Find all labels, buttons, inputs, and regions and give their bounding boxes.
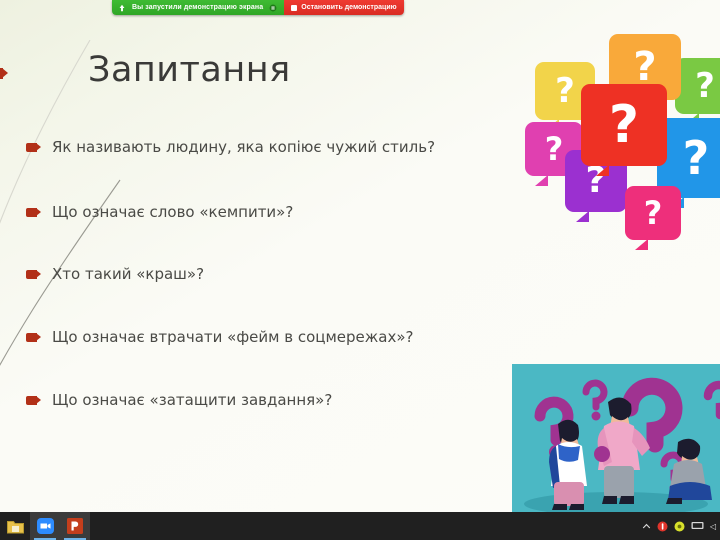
page-title: Запитання: [88, 50, 291, 90]
windows-taskbar: ◁: [0, 512, 720, 540]
arrow-bullet-icon: [26, 143, 40, 152]
powerpoint-icon: [67, 518, 83, 534]
stop-share-button[interactable]: Остановить демонстрацию: [284, 0, 403, 15]
folder-icon: [7, 519, 24, 534]
screen-share-icon: [118, 4, 126, 12]
bubble-red: ?: [581, 84, 667, 166]
bubble-pink: ?: [625, 186, 681, 240]
bullet-item-3: Хто такий «краш»?: [26, 265, 204, 283]
bullet-item-4: Що означає втрачати «фейм в соцмережах»?: [26, 328, 413, 346]
taskbar-zoom[interactable]: [30, 512, 60, 540]
share-status-text: Вы запустили демонстрацию экрана: [132, 4, 263, 11]
question-mark-glyph: ?: [625, 186, 681, 240]
edge-arrow-marker: [0, 68, 7, 79]
arrow-bullet-icon: [26, 333, 40, 342]
share-status: Вы запустили демонстрацию экрана: [112, 0, 284, 15]
arrow-bullet-icon: [26, 270, 40, 279]
people-with-question-marks-image: [512, 364, 720, 512]
pause-circle-icon[interactable]: [269, 4, 277, 12]
bullet-text: Що означає слово «кемпити»?: [52, 203, 293, 221]
tray-overflow[interactable]: ◁: [710, 522, 716, 531]
bullet-item-1: Як називають людину, яка копіює чужий ст…: [26, 138, 435, 156]
bullet-text: Що означає «затащити завдання»?: [52, 391, 332, 409]
yellow-circle-icon[interactable]: [674, 521, 685, 532]
bullet-text: Що означає втрачати «фейм в соцмережах»?: [52, 328, 413, 346]
zoom-camera-icon: [37, 518, 54, 534]
question-mark-glyph: ?: [675, 58, 720, 114]
chevron-up-icon[interactable]: [642, 522, 651, 531]
system-tray: ◁: [642, 512, 720, 540]
bubble-tail: [635, 239, 648, 250]
bubble-tail: [576, 211, 589, 222]
stop-square-icon: [291, 5, 297, 11]
arrow-bullet-icon: [26, 396, 40, 405]
bullet-text: Хто такий «краш»?: [52, 265, 204, 283]
taskbar-powerpoint[interactable]: [60, 512, 90, 540]
bullet-item-2: Що означає слово «кемпити»?: [26, 203, 293, 221]
red-circle-icon[interactable]: [657, 521, 668, 532]
bullet-item-5: Що означає «затащити завдання»?: [26, 391, 332, 409]
bubble-tail: [535, 175, 548, 186]
bubble-tail: [596, 165, 609, 176]
question-speech-bubbles-image: ????????: [525, 18, 720, 248]
arrow-bullet-icon: [26, 208, 40, 217]
zoom-screen-share-bar: Вы запустили демонстрацию экрана Останов…: [112, 0, 404, 15]
monitor-icon[interactable]: [691, 521, 704, 531]
bubble-green: ?: [675, 58, 720, 114]
screen: Запитання Як називають людину, яка копію…: [0, 0, 720, 540]
presentation-slide: Запитання Як називають людину, яка копію…: [0, 0, 720, 512]
question-mark-glyph: ?: [581, 84, 667, 166]
stop-share-label: Остановить демонстрацию: [301, 4, 396, 11]
taskbar-file-explorer[interactable]: [0, 512, 30, 540]
bullet-text: Як називають людину, яка копіює чужий ст…: [52, 138, 435, 156]
